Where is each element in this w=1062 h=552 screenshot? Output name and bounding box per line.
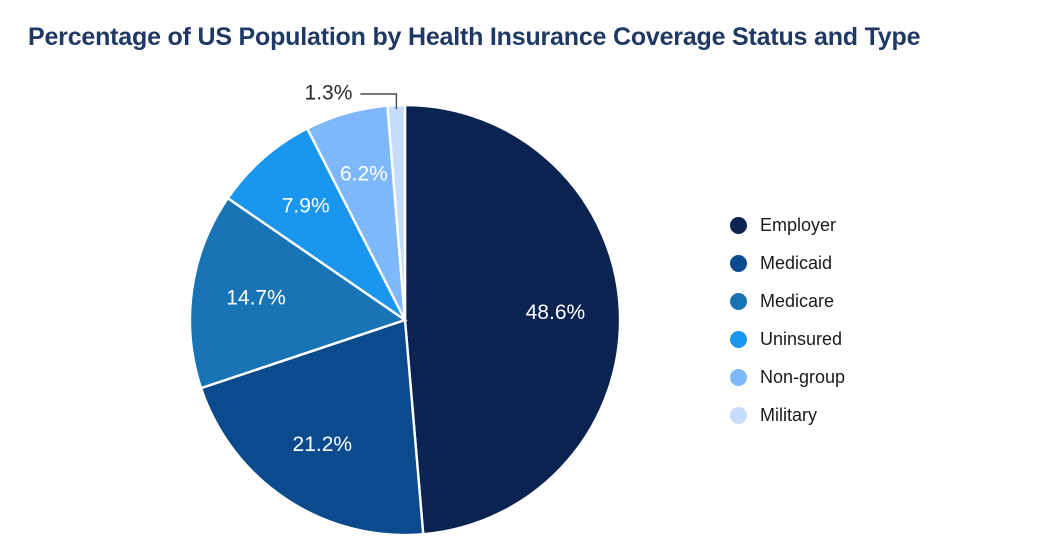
legend-item-label: Medicare	[760, 291, 834, 311]
pie-plot-area: 48.6%21.2%14.7%7.9%6.2%1.3%	[0, 0, 700, 552]
legend-item-label: Non-group	[760, 367, 845, 387]
legend-swatch-icon	[730, 369, 747, 386]
pie-slice-label: 1.3%	[305, 82, 353, 105]
pie-slice[interactable]	[405, 105, 620, 534]
legend-swatch-icon	[730, 217, 747, 234]
legend-item-label: Military	[760, 405, 817, 425]
pie-chart-figure: Percentage of US Population by Health In…	[0, 0, 1062, 552]
legend-swatch-icon	[730, 293, 747, 310]
pie-slice-label: 14.7%	[226, 287, 286, 310]
legend-item-label: Uninsured	[760, 329, 842, 349]
pie-slice-label: 6.2%	[340, 163, 388, 186]
legend-item-label: Medicaid	[760, 253, 832, 273]
pie-slice-label: 7.9%	[282, 194, 330, 217]
pie-slice-label: 48.6%	[526, 301, 586, 324]
pie-svg: 48.6%21.2%14.7%7.9%6.2%1.3%	[0, 0, 700, 552]
legend-swatch-icon	[730, 331, 747, 348]
legend-item-medicare[interactable]: Medicare	[730, 282, 1030, 320]
legend-swatch-icon	[730, 407, 747, 424]
legend-item-employer[interactable]: Employer	[730, 206, 1030, 244]
legend-item-military[interactable]: Military	[730, 396, 1030, 434]
legend-item-non-group[interactable]: Non-group	[730, 358, 1030, 396]
legend-item-label: Employer	[760, 215, 836, 235]
pie-slice-label: 21.2%	[293, 433, 353, 456]
chart-legend: EmployerMedicaidMedicareUninsuredNon-gro…	[730, 206, 1030, 434]
legend-item-uninsured[interactable]: Uninsured	[730, 320, 1030, 358]
legend-swatch-icon	[730, 255, 747, 272]
legend-item-medicaid[interactable]: Medicaid	[730, 244, 1030, 282]
